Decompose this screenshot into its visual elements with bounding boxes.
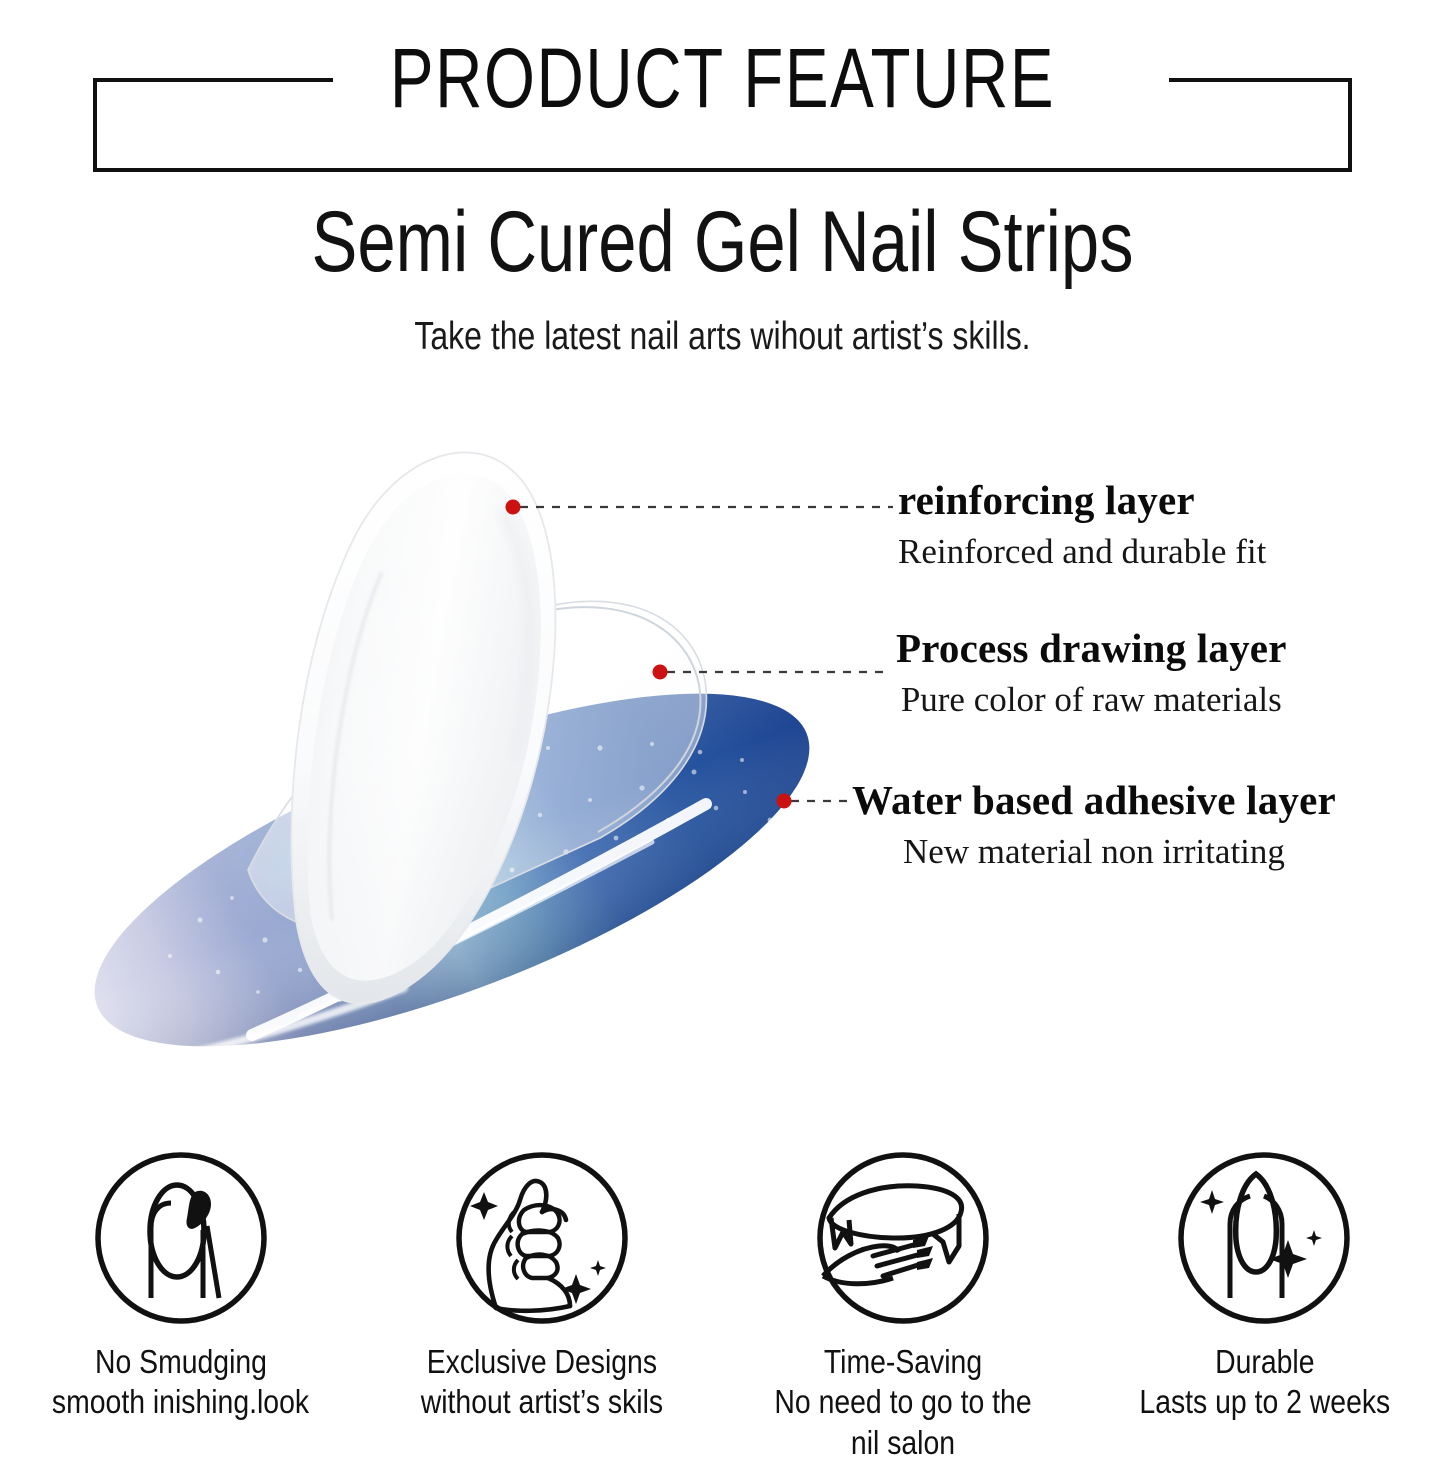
feature-row: No Smudging smooth inishing.look [0, 1148, 1445, 1463]
uv-lamp-hand-icon [813, 1148, 993, 1328]
callout-process-drawing-layer: Process drawing layer Pure color of raw … [896, 626, 1287, 721]
feature-item-durable: Durable Lasts up to 2 weeks [1084, 1148, 1445, 1463]
callout-title: Water based adhesive layer [852, 778, 1336, 824]
product-title: Semi Cured Gel Nail Strips [145, 196, 1301, 289]
callout-reinforcing-layer: reinforcing layer Reinforced and durable… [898, 478, 1266, 573]
callout-subtitle: Reinforced and durable fit [898, 531, 1266, 573]
nail-with-brush-icon [91, 1148, 271, 1328]
feature-label: Durable [1215, 1342, 1314, 1382]
callout-subtitle: New material non irritating [852, 831, 1336, 873]
feature-label: Time-Saving [824, 1342, 982, 1382]
nail-sparkle-icon [1174, 1148, 1354, 1328]
callout-title: Process drawing layer [896, 626, 1287, 672]
callout-subtitle: Pure color of raw materials [896, 679, 1287, 721]
manicured-hand-sparkle-icon [452, 1148, 632, 1328]
callout-title: reinforcing layer [898, 478, 1266, 524]
feature-desc: Lasts up to 2 weeks [1139, 1382, 1390, 1422]
feature-item-no-smudging: No Smudging smooth inishing.look [0, 1148, 361, 1463]
feature-desc: No need to go to the nil salon [757, 1382, 1049, 1463]
red-dot-marker-2 [653, 665, 668, 680]
feature-item-time-saving: Time-Saving No need to go to the nil sal… [723, 1148, 1084, 1463]
feature-label: Exclusive Designs [427, 1342, 657, 1382]
page-title: PRODUCT FEATURE [159, 36, 1286, 120]
header-block: PRODUCT FEATURE [0, 0, 1445, 190]
product-subtitle: Take the latest nail arts wihout artist’… [130, 314, 1315, 361]
red-dot-marker-3 [777, 794, 792, 809]
feature-desc: smooth inishing.look [52, 1382, 309, 1422]
feature-desc: without artist’s skils [421, 1382, 663, 1422]
feature-label: No Smudging [95, 1342, 267, 1382]
callout-water-based-adhesive-layer: Water based adhesive layer New material … [852, 778, 1336, 873]
red-dot-marker-1 [506, 500, 521, 515]
feature-item-exclusive-designs: Exclusive Designs without artist’s skils [361, 1148, 722, 1463]
